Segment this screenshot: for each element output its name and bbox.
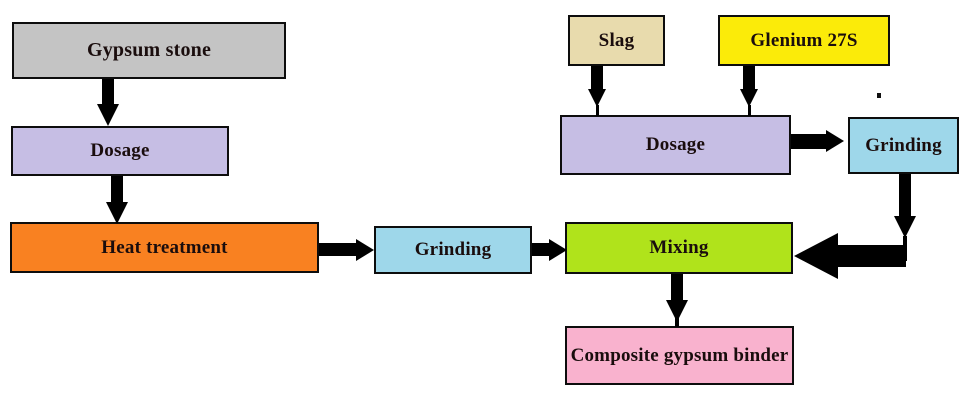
arrow-dosage-to-grinding-head	[826, 130, 844, 152]
node-label-mixing: Mixing	[567, 237, 791, 258]
node-label-slag: Slag	[570, 30, 663, 51]
arrow-dosage-to-heat-head	[106, 202, 128, 224]
node-label-glenium-27s: Glenium 27S	[720, 30, 888, 51]
stray-speck-marker	[877, 93, 881, 98]
node-label-dosage-right: Dosage	[562, 134, 789, 155]
arrow-to-mixing-thick-head	[794, 233, 838, 279]
node-heat-treatment[interactable]: Heat treatment	[10, 222, 319, 273]
node-label-gypsum-stone: Gypsum stone	[14, 39, 284, 61]
node-label-composite-gypsum-binder: Composite gypsum binder	[567, 345, 792, 366]
arrow-glenium-to-dosage-shaft	[743, 66, 755, 91]
arrow-glenium-to-dosage-tip	[748, 105, 751, 116]
node-label-dosage-left: Dosage	[13, 140, 227, 161]
arrow-grinding-right-down-head	[894, 216, 916, 238]
arrow-heat-to-grinding-head	[356, 239, 374, 261]
node-label-grinding-mid: Grinding	[376, 239, 530, 260]
arrow-grinding-to-mixing-head	[549, 239, 567, 261]
node-grinding-mid[interactable]: Grinding	[374, 226, 532, 274]
node-gypsum-stone[interactable]: Gypsum stone	[12, 22, 286, 79]
node-composite-gypsum-binder[interactable]: Composite gypsum binder	[565, 326, 794, 385]
arrow-mixing-to-binder-tip	[675, 318, 679, 327]
arrow-dosage-to-heat-shaft	[111, 176, 123, 204]
arrow-to-mixing-thick-shaft	[838, 245, 906, 267]
node-grinding-right[interactable]: Grinding	[848, 117, 959, 174]
node-label-grinding-right: Grinding	[850, 135, 957, 156]
flowchart-canvas: Gypsum stone Dosage Heat treatment Grind…	[0, 0, 974, 412]
arrow-gypsum-to-dosage-head	[97, 104, 119, 126]
arrow-dosage-to-grinding-shaft	[791, 134, 831, 149]
node-glenium-27s[interactable]: Glenium 27S	[718, 15, 890, 66]
arrow-slag-to-dosage-shaft	[591, 66, 603, 91]
arrow-grinding-right-down-shaft	[899, 174, 911, 218]
node-dosage-right[interactable]: Dosage	[560, 115, 791, 175]
arrow-mixing-to-binder-shaft	[671, 274, 683, 302]
node-slag[interactable]: Slag	[568, 15, 665, 66]
node-label-heat-treatment: Heat treatment	[12, 237, 317, 258]
node-mixing[interactable]: Mixing	[565, 222, 793, 274]
arrow-heat-to-grinding-shaft	[319, 243, 359, 256]
arrow-slag-to-dosage-tip	[596, 105, 599, 116]
node-dosage-left[interactable]: Dosage	[11, 126, 229, 176]
arrow-gypsum-to-dosage-shaft	[102, 79, 114, 106]
